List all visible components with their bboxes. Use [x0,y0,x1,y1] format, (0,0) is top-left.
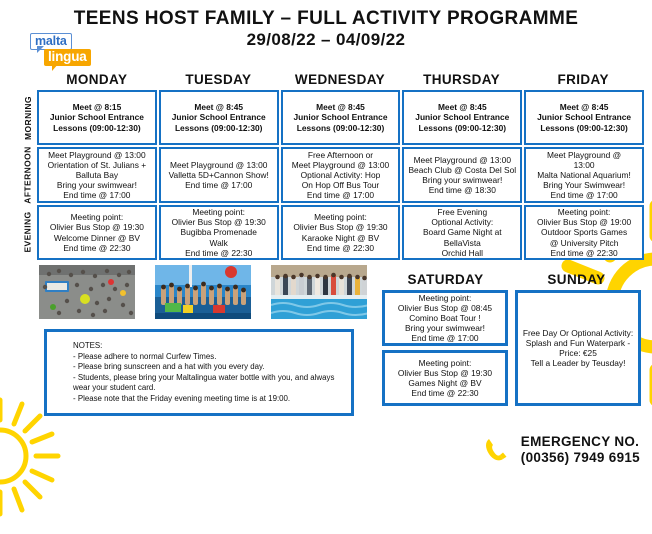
weekday-heading-sunday: SUNDAY [511,272,642,287]
cell-text: Free Day Or Optional Activity: Splash an… [523,328,633,369]
cell-text: Meet Playground @ 13:00 Valletta 5D+Cann… [169,160,269,191]
page-date-range: 29/08/22 – 04/09/22 [0,30,652,50]
emergency-number: EMERGENCY NO. (00356) 7949 6915 [521,434,640,466]
schedule-cell-morning-thursday[interactable]: Meet @ 8:45 Junior School Entrance Lesso… [402,90,522,145]
cell-text: Meeting point: Olivier Bus Stop @ 19:00 … [537,207,631,258]
schedule-cell-afternoon-wednesday[interactable]: Free Afternoon or Meet Playground @ 13:0… [281,147,401,203]
cell-text: Meet Playground @ 13:00 Orientation of S… [48,150,146,201]
timeslot-label-evening: EVENING [19,204,36,261]
photo-boat-party [154,264,252,320]
timeslot-labels-column: MORNING AFTERNOON EVENING [19,89,36,261]
schedule-cell-evening-tuesday[interactable]: Meeting point: Olivier Bus Stop @ 19:30 … [159,205,279,260]
schedule-cell-saturday-evening[interactable]: Meeting point: Olivier Bus Stop @ 19:30 … [382,350,508,406]
logo-lingua-bubble: lingua [44,49,91,66]
schedule-cell-saturday-day[interactable]: Meeting point: Olivier Bus Stop @ 08:45 … [382,290,508,346]
schedule-cell-afternoon-thursday[interactable]: Meet Playground @ 13:00 Beach Club @ Cos… [402,147,522,203]
cell-text: Free Afternoon or Meet Playground @ 13:0… [292,150,389,201]
timeslot-label-afternoon: AFTERNOON [19,146,36,203]
weekday-heading-tuesday: TUESDAY [158,72,280,87]
schedule-cell-afternoon-monday[interactable]: Meet Playground @ 13:00 Orientation of S… [37,147,157,203]
cell-text: Meet @ 8:45 Junior School Entrance Lesso… [537,102,631,133]
schedule-cell-evening-friday[interactable]: Meeting point: Olivier Bus Stop @ 19:00 … [524,205,644,260]
schedule-cell-evening-thursday[interactable]: Free Evening Optional Activity: Board Ga… [402,205,522,260]
cell-text: Free Evening Optional Activity: Board Ga… [423,207,502,258]
cell-text: Meet Playground @ 13:00 Malta National A… [537,150,631,201]
notes-text: NOTES: - Please adhere to normal Curfew … [73,341,341,404]
schedule-cell-sunday[interactable]: Free Day Or Optional Activity: Splash an… [515,290,641,406]
cell-text: Meet @ 8:45 Junior School Entrance Lesso… [293,102,387,133]
schedule-cell-afternoon-friday[interactable]: Meet Playground @ 13:00 Malta National A… [524,147,644,203]
weekday-heading-monday: MONDAY [36,72,158,87]
schedule-cell-morning-wednesday[interactable]: Meet @ 8:45 Junior School Entrance Lesso… [281,90,401,145]
schedule-cell-evening-wednesday[interactable]: Meeting point: Olivier Bus Stop @ 19:30 … [281,205,401,260]
weekday-header-row: MONDAY TUESDAY WEDNESDAY THURSDAY FRIDAY [36,72,644,87]
weekday-schedule-grid: MORNING AFTERNOON EVENING Meet @ 8:15 Ju… [19,89,645,261]
schedule-cell-morning-friday[interactable]: Meet @ 8:45 Junior School Entrance Lesso… [524,90,644,145]
schedule-cell-afternoon-tuesday[interactable]: Meet Playground @ 13:00 Valletta 5D+Cann… [159,147,279,203]
photo-poolside-group [270,264,368,320]
weekday-heading-thursday: THURSDAY [401,72,523,87]
photo-strip [38,264,368,320]
cell-text: Meeting point: Olivier Bus Stop @ 19:30 … [50,212,144,253]
page-title-block: TEENS HOST FAMILY – FULL ACTIVITY PROGRA… [0,8,652,50]
schedule-cell-evening-monday[interactable]: Meeting point: Olivier Bus Stop @ 19:30 … [37,205,157,260]
emergency-contact: EMERGENCY NO. (00356) 7949 6915 [482,434,640,466]
cell-text: Meet @ 8:45 Junior School Entrance Lesso… [415,102,509,133]
logo-lingua-tail [52,63,59,71]
cell-text: Meet @ 8:45 Junior School Entrance Lesso… [172,102,266,133]
weekend-header-row: SATURDAY SUNDAY [380,272,642,287]
schedule-cell-morning-monday[interactable]: Meet @ 8:15 Junior School Entrance Lesso… [37,90,157,145]
cell-text: Meet Playground @ 13:00 Beach Club @ Cos… [408,155,516,196]
cell-text: Meeting point: Olivier Bus Stop @ 19:30 … [172,207,266,258]
cell-text: Meet @ 8:15 Junior School Entrance Lesso… [50,102,144,133]
cell-text: Meeting point: Olivier Bus Stop @ 19:30 … [398,358,492,399]
page-title: TEENS HOST FAMILY – FULL ACTIVITY PROGRA… [0,8,652,30]
cell-text: Meeting point: Olivier Bus Stop @ 19:30 … [293,212,387,253]
phone-icon [482,435,512,465]
weekday-heading-friday: FRIDAY [522,72,644,87]
cell-text: Meeting point: Olivier Bus Stop @ 08:45 … [398,293,492,344]
timeslot-label-morning: MORNING [19,89,36,146]
weekday-heading-saturday: SATURDAY [380,272,511,287]
schedule-cell-morning-tuesday[interactable]: Meet @ 8:45 Junior School Entrance Lesso… [159,90,279,145]
photo-group-aerial [38,264,136,320]
notes-box: NOTES: - Please adhere to normal Curfew … [44,329,354,416]
weekday-heading-wednesday: WEDNESDAY [279,72,401,87]
saturday-column: Meeting point: Olivier Bus Stop @ 08:45 … [382,290,508,406]
